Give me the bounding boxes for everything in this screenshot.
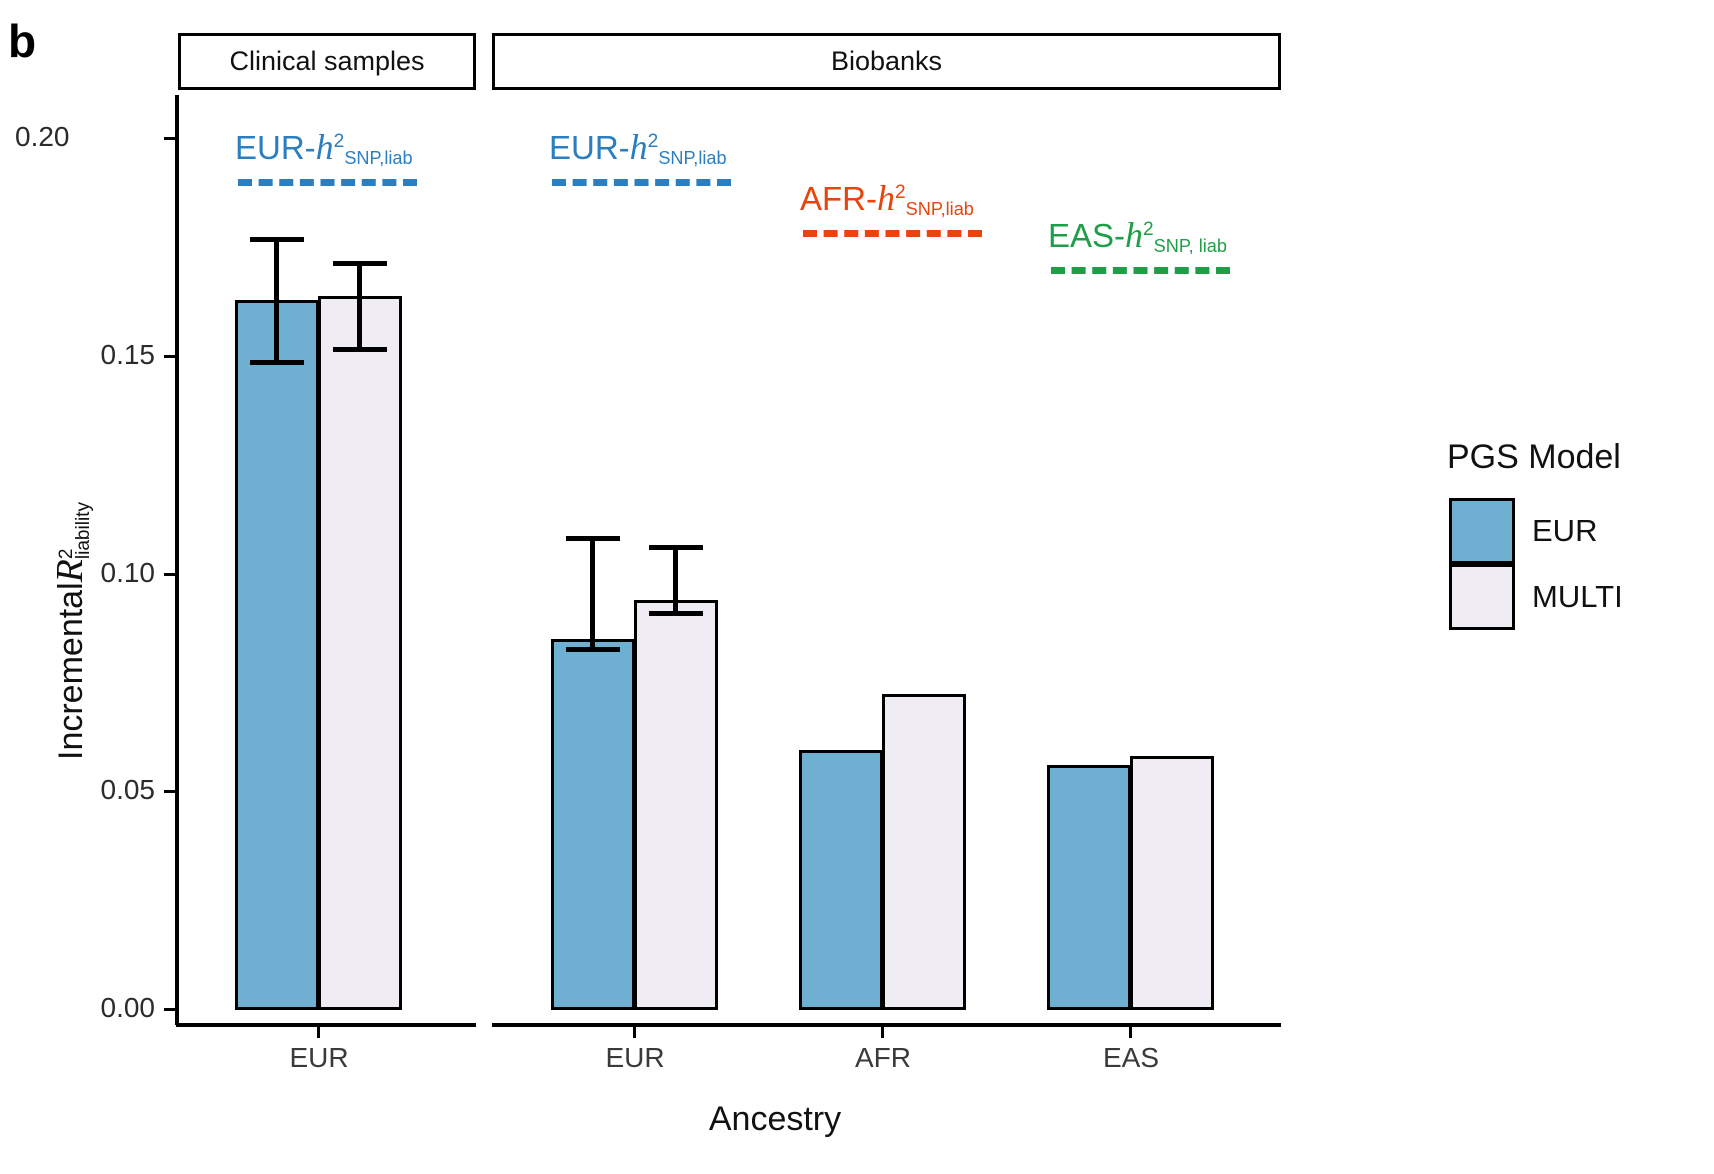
y-axis-title-sub: liability — [75, 502, 92, 559]
legend-key-multi[interactable] — [1449, 564, 1515, 630]
annotation-label-afr-biobank: AFR-h2SNP,liab — [800, 180, 974, 218]
page-title: b — [8, 18, 36, 64]
annotation-symbol: h — [630, 127, 648, 167]
y-tick-label: 0.20 — [15, 121, 70, 153]
bar-biobank-afr-eur[interactable] — [799, 750, 883, 1010]
error-bar-clinical-eur-multi — [357, 261, 362, 350]
error-bar-cap-upper — [333, 261, 387, 266]
legend-label-multi: MULTI — [1532, 579, 1623, 615]
x-tick-label-panel1-eur: EUR — [249, 1042, 389, 1074]
y-tick-label: 0.15 — [15, 339, 155, 371]
annotation-symbol: h — [877, 178, 895, 218]
x-tick-label-panel2-eur: EUR — [565, 1042, 705, 1074]
x-axis-line-panel2 — [492, 1023, 1281, 1027]
x-axis-title: Ancestry — [575, 1100, 975, 1139]
x-tick-mark — [633, 1027, 636, 1038]
x-axis-line-panel1 — [176, 1023, 476, 1027]
error-bar-biobank-eur-eur — [590, 536, 595, 650]
annotation-dashed-line-eur-clinical — [238, 179, 417, 186]
error-bar-clinical-eur-eur — [274, 237, 279, 363]
error-bar-biobank-eur-multi — [673, 545, 678, 614]
x-tick-label-panel2-eas: EAS — [1061, 1042, 1201, 1074]
y-tick-label: 0.05 — [15, 774, 155, 806]
legend-title: PGS Model — [1447, 438, 1621, 477]
annotation-label-eur-biobank: EUR-h2SNP,liab — [549, 129, 727, 167]
legend-key-eur[interactable] — [1449, 498, 1515, 564]
y-tick-mark — [164, 1008, 175, 1011]
y-axis-title-symbol: R — [49, 559, 91, 582]
y-axis-line — [175, 95, 179, 1025]
error-bar-cap-upper — [649, 545, 703, 550]
bar-clinical-eur-eur[interactable] — [235, 300, 319, 1010]
bar-biobank-afr-multi[interactable] — [882, 694, 966, 1010]
legend-label-eur: EUR — [1532, 513, 1597, 549]
annotation-dashed-line-eur-biobank — [552, 179, 731, 186]
x-tick-label-panel2-afr: AFR — [813, 1042, 953, 1074]
figure-panel-b: b Clinical samples Biobanks 0.00 0.05 0.… — [0, 0, 1714, 1174]
annotation-sub: SNP,liab — [344, 148, 412, 168]
annotation-prefix: EAS- — [1048, 217, 1125, 254]
x-tick-mark — [317, 1027, 320, 1038]
x-tick-mark — [1129, 1027, 1132, 1038]
annotation-dashed-line-eas-biobank — [1051, 267, 1230, 274]
annotation-sub: SNP, liab — [1154, 236, 1227, 256]
error-bar-cap-lower — [566, 647, 620, 652]
annotation-label-eur-clinical: EUR-h2SNP,liab — [235, 129, 413, 167]
error-bar-cap-lower — [250, 360, 304, 365]
error-bar-cap-lower — [649, 611, 703, 616]
y-tick-label: 0.00 — [15, 992, 155, 1024]
annotation-symbol: h — [316, 127, 334, 167]
bar-biobank-eur-multi[interactable] — [634, 600, 718, 1010]
y-tick-mark — [164, 355, 175, 358]
facet-strip-biobanks: Biobanks — [492, 33, 1281, 90]
bar-biobank-eur-eur[interactable] — [551, 639, 635, 1010]
bar-biobank-eas-eur[interactable] — [1047, 765, 1131, 1010]
facet-strip-label: Clinical samples — [229, 46, 424, 77]
x-tick-mark — [881, 1027, 884, 1038]
bar-clinical-eur-multi[interactable] — [318, 296, 402, 1010]
annotation-symbol: h — [1125, 215, 1143, 255]
error-bar-cap-lower — [333, 347, 387, 352]
annotation-label-eas-biobank: EAS-h2SNP, liab — [1048, 217, 1227, 255]
facet-strip-clinical-samples: Clinical samples — [178, 33, 476, 90]
annotation-sup: 2 — [648, 131, 659, 152]
annotation-prefix: EUR- — [549, 129, 630, 166]
y-tick-mark — [164, 790, 175, 793]
facet-strip-label: Biobanks — [831, 46, 942, 77]
y-axis-title-prefix: Incremental — [52, 582, 90, 760]
annotation-dashed-line-afr-biobank — [803, 230, 982, 237]
error-bar-cap-upper — [566, 536, 620, 541]
annotation-sup: 2 — [334, 131, 345, 152]
annotation-prefix: AFR- — [800, 180, 877, 217]
error-bar-cap-upper — [250, 237, 304, 242]
y-axis-title: IncrementalR 2 liability — [48, 502, 92, 760]
annotation-sub: SNP,liab — [906, 199, 974, 219]
annotation-prefix: EUR- — [235, 129, 316, 166]
bar-biobank-eas-multi[interactable] — [1130, 756, 1214, 1010]
annotation-sub: SNP,liab — [658, 148, 726, 168]
y-tick-mark — [164, 137, 175, 140]
annotation-sup: 2 — [895, 182, 906, 203]
y-tick-mark — [164, 573, 175, 576]
annotation-sup: 2 — [1143, 219, 1154, 240]
